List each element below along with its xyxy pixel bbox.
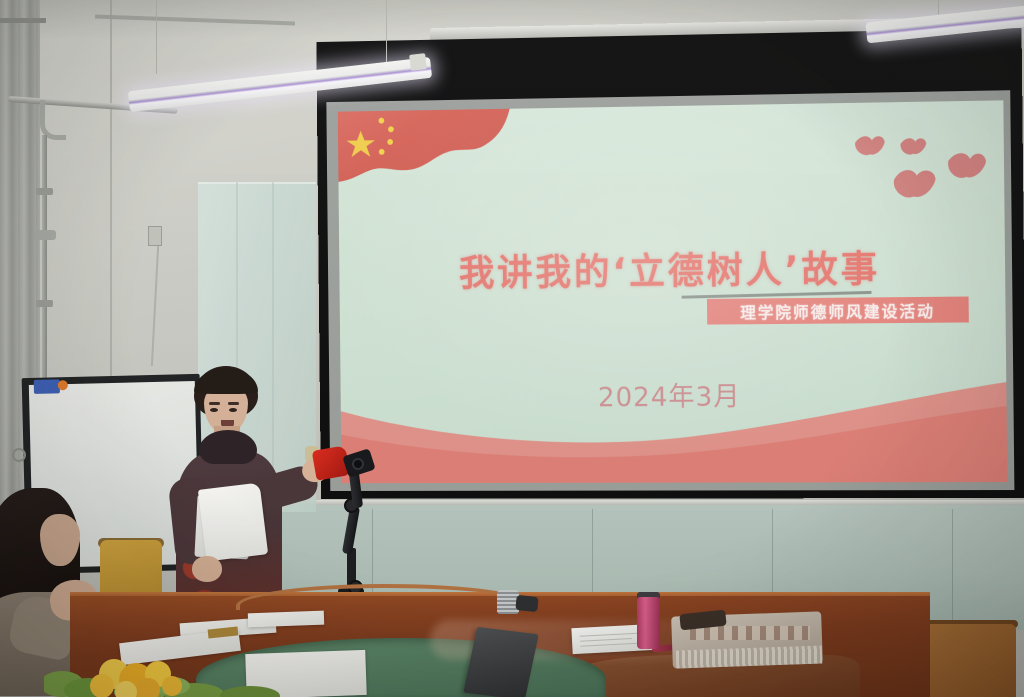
table-papers[interactable] <box>248 611 324 628</box>
pipe-clamp <box>36 300 53 307</box>
pink-thermos[interactable] <box>637 597 660 649</box>
presenter-bangs <box>194 368 258 394</box>
slide-subtitle-band: 理学院师德师风建设活动 <box>707 297 969 325</box>
light-hanger-wire <box>938 0 939 14</box>
red-wave-graphic <box>340 374 1007 483</box>
presenter-paper-sheet <box>198 482 268 561</box>
wainscot-seam <box>952 509 953 627</box>
slide-subtitle-text: 理学院师德师风建设活动 <box>740 298 935 324</box>
presenter-collar <box>199 430 257 464</box>
notebook-line <box>580 642 644 646</box>
presenter-eye <box>210 408 218 412</box>
yellow-flowers <box>90 659 182 697</box>
microphone-body[interactable] <box>515 595 538 612</box>
light-hanger-wire <box>156 0 157 74</box>
classroom-photo-scene: 我讲我的‘立德树人’故事 理学院师德师风建设活动 2024年3月 <box>0 0 1024 697</box>
presenter-brow <box>228 402 239 405</box>
whiteboard-knob-icon <box>12 448 26 462</box>
presentation-slide: 我讲我的‘立德树人’故事 理学院师德师风建设活动 2024年3月 <box>338 100 1008 483</box>
chinese-flag-graphic <box>338 103 531 213</box>
projection-screen: 我讲我的‘立德树人’故事 理学院师德师风建设活动 2024年3月 <box>316 28 1024 499</box>
laptop[interactable] <box>463 627 539 697</box>
pipe-clamp <box>36 188 53 195</box>
tube-light-left-cap <box>409 53 427 71</box>
sprinkler-head <box>34 230 56 240</box>
presenter-left-hand <box>192 556 222 582</box>
wall-junction-box <box>148 226 162 246</box>
chair-right[interactable] <box>920 624 1016 697</box>
doves-graphic <box>839 123 988 215</box>
notebook-line <box>580 633 640 637</box>
pipe-elbow <box>40 100 66 140</box>
whiteboard-eraser[interactable] <box>34 379 60 394</box>
doc-camera-lens-icon <box>352 458 364 470</box>
presenter-brow <box>209 402 220 405</box>
cloth-pattern <box>690 626 810 640</box>
presenter-eye <box>229 408 237 412</box>
curtain-rod <box>0 18 46 23</box>
light-hanger-wire <box>386 0 387 70</box>
notebook-line <box>580 638 632 642</box>
slide-title: 我讲我的‘立德树人’故事 <box>339 237 1005 297</box>
flower-arrangement <box>44 640 294 697</box>
